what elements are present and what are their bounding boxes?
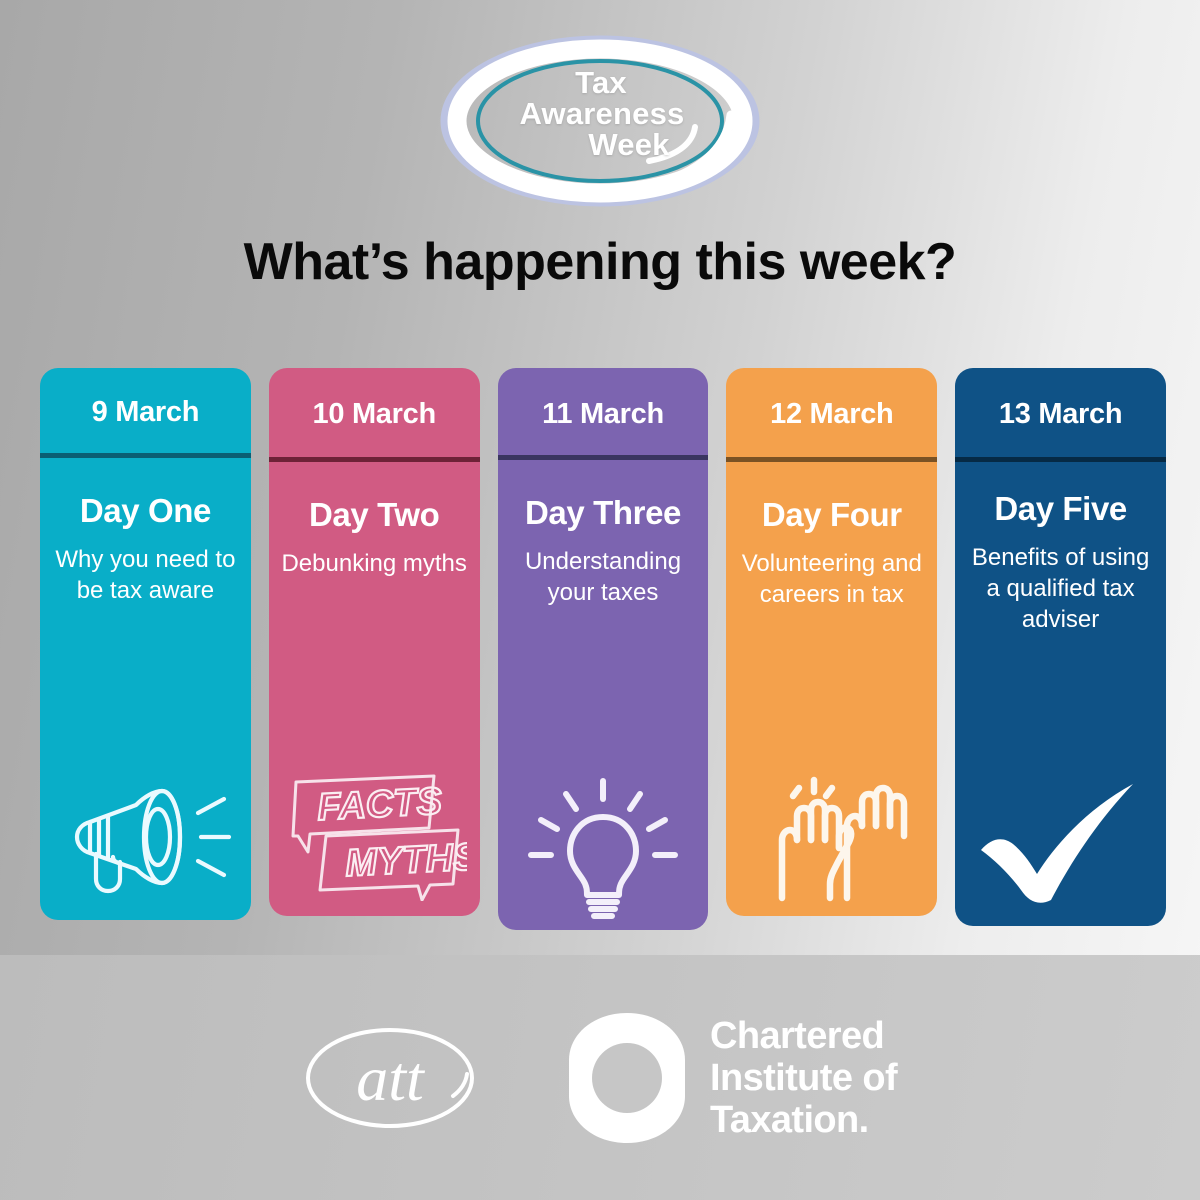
- lightbulb-icon: [498, 770, 709, 930]
- check-mark-icon: [955, 766, 1166, 926]
- logo-line-3: Week: [435, 129, 765, 160]
- card-day-label: Day Two: [279, 496, 470, 534]
- card-description: Volunteering and careers in tax: [736, 548, 927, 610]
- day-card-two[interactable]: 10 March Day Two Debunking myths FACTS M…: [269, 368, 480, 916]
- logo-line-1: Tax: [435, 67, 765, 98]
- logo-line-2: Awareness: [435, 98, 765, 129]
- chartered-institute-of-taxation-logo: Chartered Institute of Taxation.: [568, 1012, 897, 1144]
- card-day-label: Day Five: [965, 490, 1156, 528]
- day-cards-row: 9 March Day One Why you need to be tax a…: [40, 368, 1166, 930]
- card-date: 12 March: [726, 368, 937, 457]
- att-logo: att: [303, 1024, 478, 1132]
- day-card-five[interactable]: 13 March Day Five Benefits of using a qu…: [955, 368, 1166, 926]
- card-date: 10 March: [269, 368, 480, 457]
- tax-awareness-week-logo: Tax Awareness Week: [0, 26, 1200, 216]
- megaphone-icon: [40, 760, 251, 920]
- facts-label: FACTS: [316, 780, 443, 828]
- card-description: Understanding your taxes: [508, 546, 699, 608]
- card-day-label: Day Four: [736, 496, 927, 534]
- logo-wordmark: Tax Awareness Week: [435, 67, 765, 160]
- myths-label: MYTHS: [344, 836, 467, 885]
- day-card-one[interactable]: 9 March Day One Why you need to be tax a…: [40, 368, 251, 920]
- ciot-line-1: Chartered: [710, 1015, 897, 1057]
- card-date: 13 March: [955, 368, 1166, 457]
- card-description: Benefits of using a qualified tax advise…: [965, 542, 1156, 635]
- page-title: What’s happening this week?: [0, 232, 1200, 292]
- card-date: 9 March: [40, 368, 251, 453]
- poster-canvas: Tax Awareness Week What’s happening this…: [0, 0, 1200, 1200]
- ciot-line-2: Institute of: [710, 1057, 897, 1099]
- ciot-line-3: Taxation.: [710, 1099, 897, 1141]
- card-day-label: Day Three: [508, 494, 699, 532]
- day-card-four[interactable]: 12 March Day Four Volunteering and caree…: [726, 368, 937, 916]
- day-card-three[interactable]: 11 March Day Three Understanding your ta…: [498, 368, 709, 930]
- ciot-mark-icon: [568, 1012, 686, 1144]
- footer-bar: att Chartered Institute of Taxation.: [0, 955, 1200, 1200]
- card-date: 11 March: [498, 368, 709, 455]
- card-description: Why you need to be tax aware: [50, 544, 241, 606]
- card-description: Debunking myths: [279, 548, 470, 579]
- facts-myths-speech-bubbles-icon: FACTS MYTHS: [269, 756, 480, 916]
- att-wordmark: att: [356, 1043, 426, 1114]
- raised-hands-icon: [726, 756, 937, 916]
- ciot-wordmark: Chartered Institute of Taxation.: [710, 1015, 897, 1141]
- card-day-label: Day One: [50, 492, 241, 530]
